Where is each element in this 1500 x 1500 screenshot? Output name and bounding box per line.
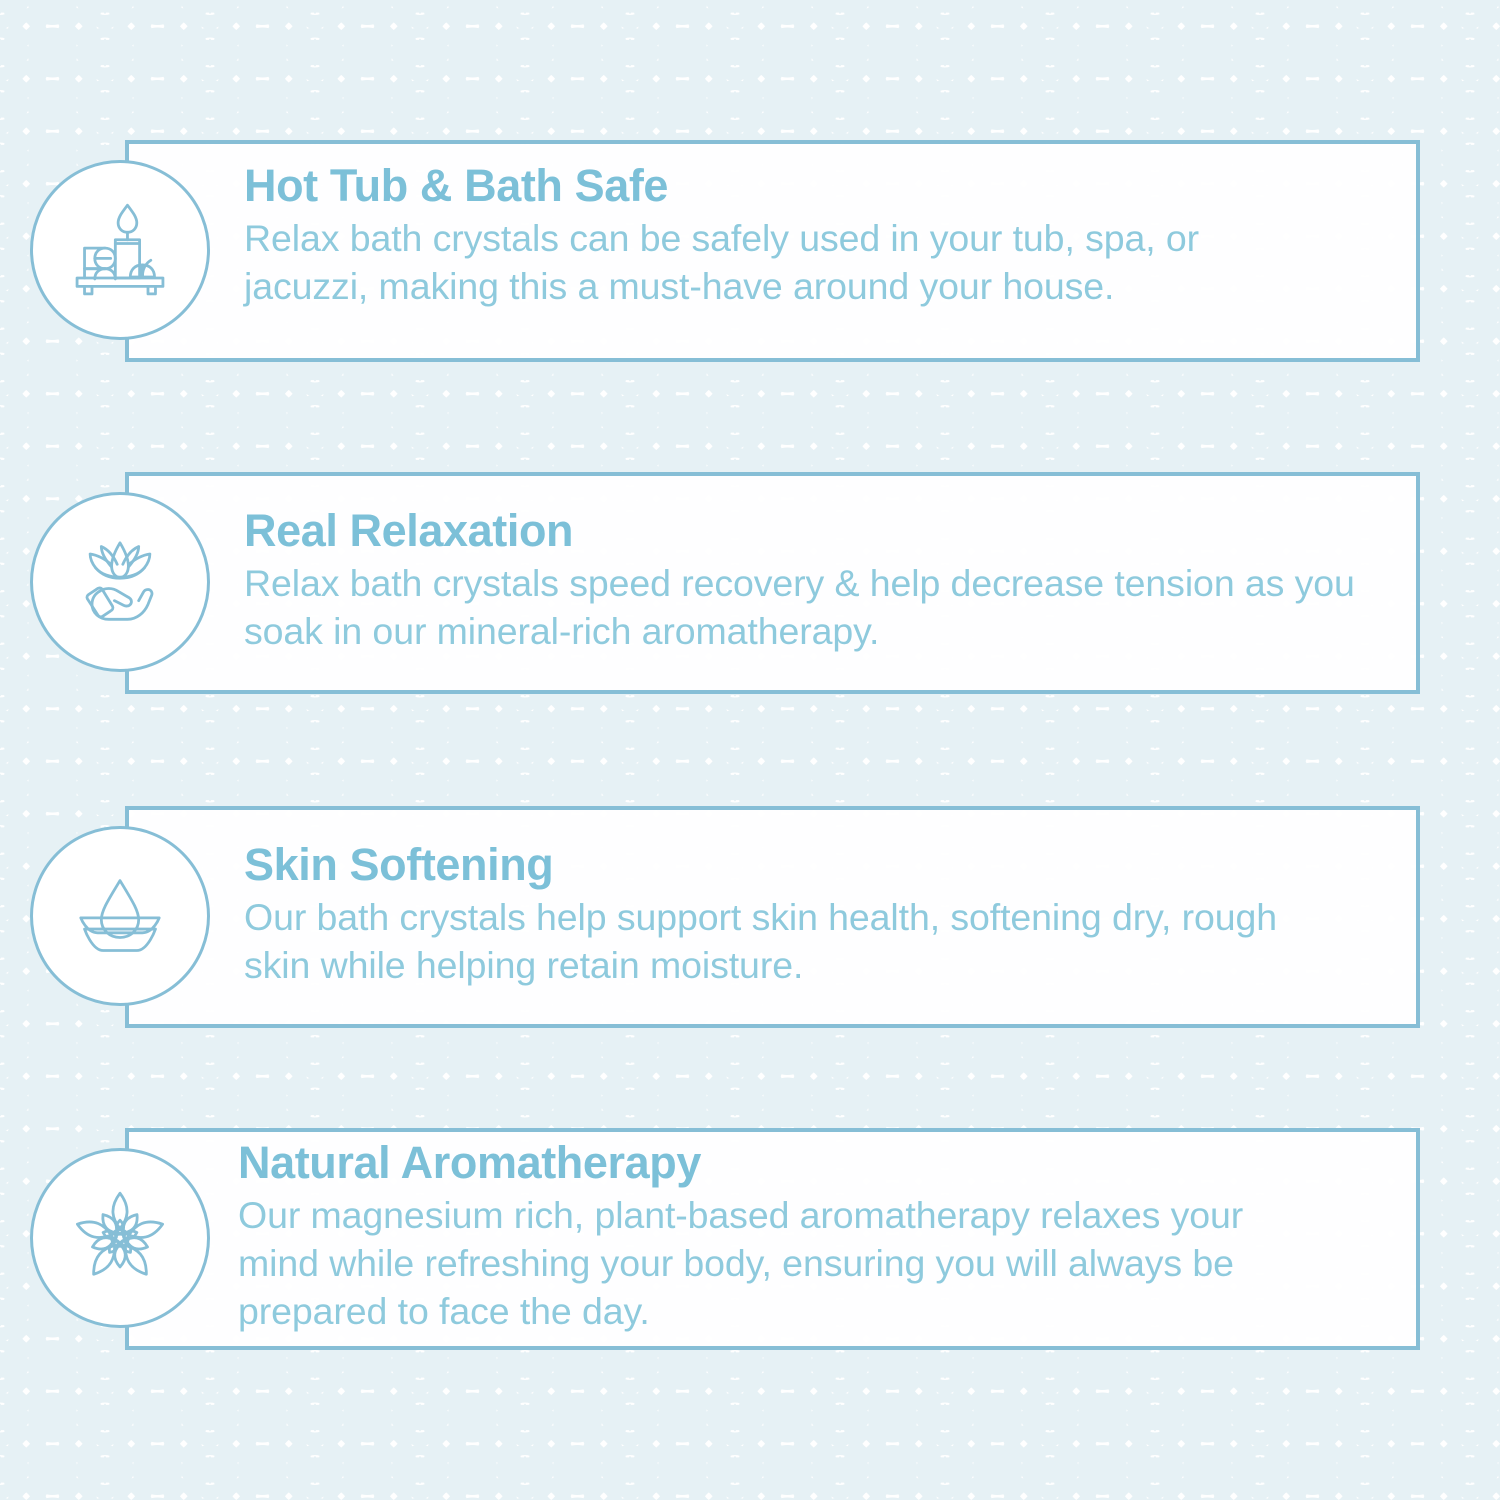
feature-list: Hot Tub & Bath Safe Relax bath crystals …: [0, 0, 1500, 1500]
feature-description: Our bath crystals help support skin heal…: [244, 893, 1314, 989]
feature-description: Our magnesium rich, plant-based aromathe…: [238, 1191, 1318, 1335]
feature-title: Natural Aromatherapy: [238, 1140, 1318, 1187]
feature-text: Hot Tub & Bath Safe Relax bath crystals …: [244, 163, 1314, 310]
hand-holding-lotus-icon: [30, 492, 210, 672]
flower-blossom-icon: [30, 1148, 210, 1328]
feature-text: Real Relaxation Relax bath crystals spee…: [244, 508, 1364, 655]
feature-text: Natural Aromatherapy Our magnesium rich,…: [238, 1140, 1318, 1335]
feature-description: Relax bath crystals can be safely used i…: [244, 214, 1314, 310]
feature-title: Real Relaxation: [244, 508, 1364, 555]
candle-towels-spa-icon: [30, 160, 210, 340]
feature-text: Skin Softening Our bath crystals help su…: [244, 842, 1314, 989]
water-drop-leaf-icon: [30, 826, 210, 1006]
feature-title: Hot Tub & Bath Safe: [244, 163, 1314, 210]
feature-description: Relax bath crystals speed recovery & hel…: [244, 559, 1364, 655]
feature-title: Skin Softening: [244, 842, 1314, 889]
